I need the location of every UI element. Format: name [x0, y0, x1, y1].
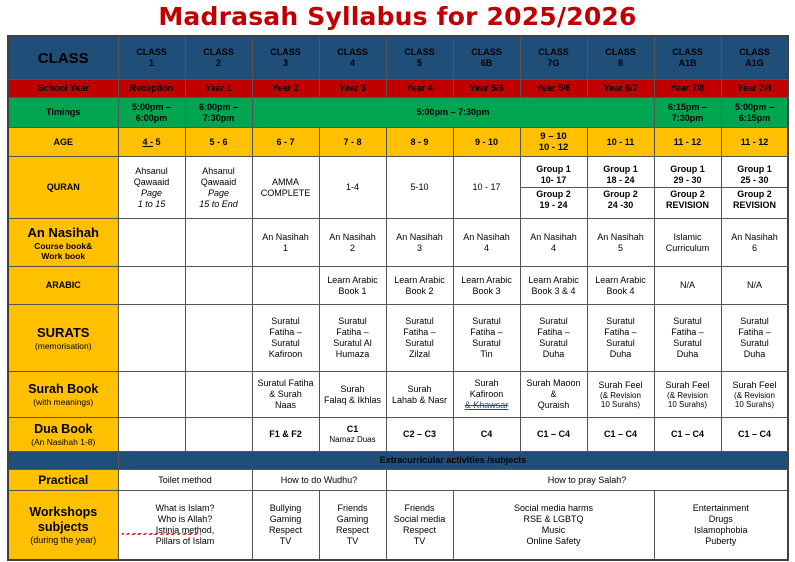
- surats-class-8-l2: Fatiha –: [589, 327, 653, 338]
- arabic-class-a1g: N/A: [721, 267, 788, 305]
- an-nasihah-class-8: An Nasihah 5: [587, 219, 654, 267]
- age-class-1: 4 - 5: [118, 128, 185, 157]
- timings-label: Timings: [8, 98, 118, 128]
- header-class-3-line2: 3: [254, 58, 318, 69]
- page-title: Madrasah Syllabus for 2025/2026: [0, 0, 795, 35]
- surah-book-class-3-l3: Naas: [254, 400, 318, 411]
- quran-class-7g-group2-value: 19 - 24: [539, 200, 567, 210]
- dua-book-class-4-l1: C1: [321, 424, 385, 435]
- workshops-row: Workshops subjects (during the year) Wha…: [8, 491, 788, 561]
- surah-book-class-6b: Surah Kafiroon & Khawsar: [453, 372, 520, 418]
- header-class-7g-line2: 7G: [522, 58, 586, 69]
- arabic-class-6b-l1: Learn Arabic: [455, 275, 519, 286]
- surah-book-class-a1b-l1: Surah Feel: [656, 380, 720, 391]
- dua-book-class-5: C2 – C3: [386, 418, 453, 452]
- arabic-label: ARABIC: [8, 267, 118, 305]
- surats-class-a1g-l3: Suratul: [723, 338, 787, 349]
- age-label: AGE: [8, 128, 118, 157]
- age-class-7g-line1: 9 – 10: [522, 131, 586, 142]
- header-class-6b: CLASS 6B: [453, 36, 520, 80]
- workshops-group-6-line-2: Drugs: [656, 514, 787, 525]
- arabic-class-8-l2: Book 4: [589, 286, 653, 297]
- surah-book-label-sub: (with meanings): [10, 397, 117, 407]
- workshops-group-5-line-4: Online Safety: [455, 536, 653, 547]
- workshops-group-3-line-1: Friends: [321, 503, 385, 514]
- extracurricular-banner: Extracurricular activities /subjects: [118, 452, 788, 470]
- surats-class-6b-l4: Tin: [455, 349, 519, 360]
- arabic-class-2: [185, 267, 252, 305]
- school-year-7g: Year 5/6: [520, 80, 587, 98]
- quran-class-8-group2-value: 24 -30: [608, 200, 634, 210]
- dua-book-class-4: C1 Namaz Duas: [319, 418, 386, 452]
- practical-group-2: How to do Wudhu?: [252, 470, 386, 491]
- age-class-3: 6 - 7: [252, 128, 319, 157]
- header-class-4-line2: 4: [321, 58, 385, 69]
- surah-book-class-a1b-l2: (& Revision: [656, 391, 720, 401]
- workshops-group-1-line-3: Istinja method,: [120, 525, 251, 536]
- surah-book-class-8-l2: (& Revision: [589, 391, 653, 401]
- workshops-group-2-line-3: Respect: [254, 525, 318, 536]
- surats-class-6b-l3: Suratul: [455, 338, 519, 349]
- surah-book-label-main: Surah Book: [10, 382, 117, 397]
- an-nasihah-class-1: [118, 219, 185, 267]
- surats-class-8-l4: Duha: [589, 349, 653, 360]
- header-class-4: CLASS 4: [319, 36, 386, 80]
- workshops-group-2-line-4: TV: [254, 536, 318, 547]
- workshops-group-2: Bullying Gaming Respect TV: [252, 491, 319, 561]
- school-year-5: Year 4: [386, 80, 453, 98]
- school-year-1: Reception: [118, 80, 185, 98]
- an-nasihah-class-3: An Nasihah 1: [252, 219, 319, 267]
- header-class-6b-line1: CLASS: [471, 47, 502, 57]
- surah-book-class-8: Surah Feel (& Revision 10 Surahs): [587, 372, 654, 418]
- surats-class-8: Suratul Fatiha – Suratul Duha: [587, 305, 654, 372]
- surah-book-class-7g-l3: Quraish: [522, 400, 586, 411]
- workshops-group-6-line-3: Islamophobia: [656, 525, 787, 536]
- header-class-7g-line1: CLASS: [538, 47, 569, 57]
- surats-class-7g-l3: Suratul: [522, 338, 586, 349]
- arabic-class-4-l1: Learn Arabic: [321, 275, 385, 286]
- quran-class-a1g-group2-value: REVISION: [733, 200, 776, 210]
- arabic-class-7g-l2: Book 3 & 4: [522, 286, 586, 297]
- dua-book-label-sub: (An Nasihah 1-8): [10, 437, 117, 447]
- practical-group-1: Toilet method: [118, 470, 252, 491]
- quran-class-1-l4: 1 to 15: [120, 199, 184, 210]
- surah-book-class-4: Surah Falaq & Ikhlas: [319, 372, 386, 418]
- dua-book-class-1: [118, 418, 185, 452]
- surats-class-5: Suratul Fatiha – Suratul Zilzal: [386, 305, 453, 372]
- quran-class-7g: Group 1 10- 17 Group 2 19 - 24: [520, 157, 587, 219]
- header-class-5: CLASS 5: [386, 36, 453, 80]
- an-nasihah-label-sub1: Course book&: [10, 241, 117, 251]
- quran-class-8-group1: Group 1 18 - 24: [588, 163, 654, 188]
- age-row: AGE 4 - 5 5 - 6 6 - 7 7 - 8 8 - 9 9 - 10…: [8, 128, 788, 157]
- dua-book-class-a1b: C1 – C4: [654, 418, 721, 452]
- an-nasihah-class-6b-l1: An Nasihah: [455, 232, 519, 243]
- quran-class-1-l2: Qawaaid: [120, 177, 184, 188]
- surah-book-class-2: [185, 372, 252, 418]
- an-nasihah-class-4-l2: 2: [321, 243, 385, 254]
- surah-book-class-a1g-l3: 10 Surahs): [723, 400, 787, 410]
- surah-book-row: Surah Book (with meanings) Suratul Fatih…: [8, 372, 788, 418]
- an-nasihah-class-a1g-l1: An Nasihah: [723, 232, 787, 243]
- surah-book-class-8-l1: Surah Feel: [589, 380, 653, 391]
- timings-class-1: 5:00pm – 6:00pm: [118, 98, 185, 128]
- arabic-row: ARABIC Learn Arabic Book 1 Learn Arabic …: [8, 267, 788, 305]
- an-nasihah-class-7g-l1: An Nasihah: [522, 232, 586, 243]
- surats-class-a1b-l2: Fatiha –: [656, 327, 720, 338]
- quran-class-a1b-group2-value: REVISION: [666, 200, 709, 210]
- header-class-a1g: CLASS A1G: [721, 36, 788, 80]
- timings-class-2: 6:00pm – 7:30pm: [185, 98, 252, 128]
- surats-class-3-l4: Kafiroon: [254, 349, 318, 360]
- age-class-6b: 9 - 10: [453, 128, 520, 157]
- quran-class-3-l1: AMMA: [254, 177, 318, 188]
- surats-class-a1g-l1: Suratul: [723, 316, 787, 327]
- quran-class-3-l2: COMPLETE: [254, 188, 318, 199]
- workshops-label-sub2: (during the year): [10, 535, 117, 545]
- quran-class-a1g-group2: Group 2 REVISION: [722, 188, 788, 213]
- quran-class-7g-group1-label: Group 1: [521, 164, 587, 175]
- surats-class-4-l3: Suratul Al: [321, 338, 385, 349]
- dua-book-class-2: [185, 418, 252, 452]
- quran-class-a1b-group1-value: 29 - 30: [673, 175, 701, 185]
- arabic-class-a1b: N/A: [654, 267, 721, 305]
- surah-book-class-3-l2: & Surah: [254, 389, 318, 400]
- arabic-class-5-l2: Book 2: [388, 286, 452, 297]
- surats-class-7g-l1: Suratul: [522, 316, 586, 327]
- school-year-6b: Year 5/6: [453, 80, 520, 98]
- surats-class-7g-l2: Fatiha –: [522, 327, 586, 338]
- an-nasihah-class-8-l1: An Nasihah: [589, 232, 653, 243]
- workshops-label-sub1: subjects: [10, 520, 117, 535]
- surats-class-a1b-l1: Suratul: [656, 316, 720, 327]
- header-class-1-line2: 1: [120, 58, 184, 69]
- an-nasihah-class-a1g: An Nasihah 6: [721, 219, 788, 267]
- quran-class-8-group1-value: 18 - 24: [606, 175, 634, 185]
- workshops-group-1: What is Islam? Who is Allah? Istinja met…: [118, 491, 252, 561]
- header-class-4-line1: CLASS: [337, 47, 368, 57]
- header-class-1-line1: CLASS: [136, 47, 167, 57]
- surats-class-7g-l4: Duha: [522, 349, 586, 360]
- arabic-class-7g: Learn Arabic Book 3 & 4: [520, 267, 587, 305]
- workshops-group-4: Friends Social media Respect TV: [386, 491, 453, 561]
- workshops-group-1-line-4: Pillars of Islam: [120, 536, 251, 547]
- dua-book-row: Dua Book (An Nasihah 1-8) F1 & F2 C1 Nam…: [8, 418, 788, 452]
- surats-class-a1g-l4: Duha: [723, 349, 787, 360]
- surah-book-class-7g: Surah Maoon & Quraish: [520, 372, 587, 418]
- dua-book-label: Dua Book (An Nasihah 1-8): [8, 418, 118, 452]
- workshops-group-5-line-3: Music: [455, 525, 653, 536]
- surah-book-class-6b-strikethrough: & Khawsar: [455, 400, 519, 411]
- header-class-8: CLASS 8: [587, 36, 654, 80]
- quran-class-5: 5-10: [386, 157, 453, 219]
- workshops-group-2-line-1: Bullying: [254, 503, 318, 514]
- quran-class-2-l1: Ahsanul: [187, 166, 251, 177]
- timings-class-a1b: 6:15pm – 7:30pm: [654, 98, 721, 128]
- quran-class-6b: 10 - 17: [453, 157, 520, 219]
- school-year-a1b: Year 7/8: [654, 80, 721, 98]
- surats-class-6b-l2: Fatiha –: [455, 327, 519, 338]
- an-nasihah-class-8-l2: 5: [589, 243, 653, 254]
- timings-class-a1g: 5:00pm – 6:15pm: [721, 98, 788, 128]
- quran-class-1: Ahsanul Qawaaid Page 1 to 15: [118, 157, 185, 219]
- header-class-7g: CLASS 7G: [520, 36, 587, 80]
- workshops-group-3-line-2: Gaming: [321, 514, 385, 525]
- quran-class-2-l3: Page: [187, 188, 251, 199]
- surah-book-class-4-l2: Falaq & Ikhlas: [321, 395, 385, 406]
- surah-book-class-5-l2: Lahab & Nasr: [388, 395, 452, 406]
- workshops-group-4-line-2: Social media: [388, 514, 452, 525]
- surats-class-8-l3: Suratul: [589, 338, 653, 349]
- header-class-a1g-line1: CLASS: [739, 47, 770, 57]
- workshops-group-5-line-1: Social media harms: [455, 503, 653, 514]
- timings-row: Timings 5:00pm – 6:00pm 6:00pm – 7:30pm …: [8, 98, 788, 128]
- extracurricular-banner-spacer: [8, 452, 118, 470]
- an-nasihah-class-2: [185, 219, 252, 267]
- surah-book-class-8-l3: 10 Surahs): [589, 400, 653, 410]
- workshops-group-2-line-2: Gaming: [254, 514, 318, 525]
- an-nasihah-row: An Nasihah Course book& Work book An Nas…: [8, 219, 788, 267]
- school-year-4: Year 3: [319, 80, 386, 98]
- extracurricular-banner-row: Extracurricular activities /subjects: [8, 452, 788, 470]
- an-nasihah-class-4-l1: An Nasihah: [321, 232, 385, 243]
- timings-middle: 5:00pm – 7:30pm: [252, 98, 654, 128]
- surah-book-class-a1g: Surah Feel (& Revision 10 Surahs): [721, 372, 788, 418]
- surah-book-class-5: Surah Lahab & Nasr: [386, 372, 453, 418]
- header-class-a1b-line1: CLASS: [672, 47, 703, 57]
- school-year-a1g: Year 7/8: [721, 80, 788, 98]
- school-year-2: Year 1: [185, 80, 252, 98]
- surats-class-5-l2: Fatiha –: [388, 327, 452, 338]
- surats-class-3-l1: Suratul: [254, 316, 318, 327]
- workshops-group-4-line-3: Respect: [388, 525, 452, 536]
- quran-class-a1g-group2-label: Group 2: [722, 189, 788, 200]
- surats-class-5-l1: Suratul: [388, 316, 452, 327]
- surah-book-class-a1b: Surah Feel (& Revision 10 Surahs): [654, 372, 721, 418]
- quran-class-a1g-group1-label: Group 1: [722, 164, 788, 175]
- age-class-4: 7 - 8: [319, 128, 386, 157]
- school-year-row: School Year Reception Year 1 Year 2 Year…: [8, 80, 788, 98]
- quran-class-8-group2-label: Group 2: [588, 189, 654, 200]
- surats-class-4: Suratul Fatiha – Suratul Al Humaza: [319, 305, 386, 372]
- surah-book-class-5-l1: Surah: [388, 384, 452, 395]
- an-nasihah-class-a1b-l2: Curriculum: [656, 243, 720, 254]
- dua-book-class-6b: C4: [453, 418, 520, 452]
- arabic-class-5-l1: Learn Arabic: [388, 275, 452, 286]
- an-nasihah-class-a1b: Islamic Curriculum: [654, 219, 721, 267]
- practical-label: Practical: [8, 470, 118, 491]
- quran-class-a1g-group1: Group 1 25 - 30: [722, 163, 788, 188]
- an-nasihah-class-a1b-l1: Islamic: [656, 232, 720, 243]
- header-class-8-line1: CLASS: [605, 47, 636, 57]
- surats-class-a1b: Suratul Fatiha – Suratul Duha: [654, 305, 721, 372]
- surats-class-5-l4: Zilzal: [388, 349, 452, 360]
- school-year-8: Year 6/7: [587, 80, 654, 98]
- an-nasihah-class-6b-l2: 4: [455, 243, 519, 254]
- quran-class-7g-group2-label: Group 2: [521, 189, 587, 200]
- practical-group-3: How to pray Salah?: [386, 470, 788, 491]
- practical-row: Practical Toilet method How to do Wudhu?…: [8, 470, 788, 491]
- surats-class-a1g: Suratul Fatiha – Suratul Duha: [721, 305, 788, 372]
- header-class-2-line2: 2: [187, 58, 251, 69]
- quran-class-a1g: Group 1 25 - 30 Group 2 REVISION: [721, 157, 788, 219]
- school-year-label: School Year: [8, 80, 118, 98]
- surah-book-class-a1g-l1: Surah Feel: [723, 380, 787, 391]
- workshops-group-4-line-4: TV: [388, 536, 452, 547]
- workshops-label-main: Workshops: [10, 505, 117, 520]
- header-class-label: CLASS: [8, 36, 118, 80]
- workshops-group-6-line-1: Entertainment: [656, 503, 787, 514]
- surats-class-5-l3: Suratul: [388, 338, 452, 349]
- an-nasihah-class-7g-l2: 4: [522, 243, 586, 254]
- surats-class-1: [118, 305, 185, 372]
- surats-class-6b: Suratul Fatiha – Suratul Tin: [453, 305, 520, 372]
- quran-class-8-group2: Group 2 24 -30: [588, 188, 654, 213]
- surah-book-class-a1b-l3: 10 Surahs): [656, 400, 720, 410]
- surah-book-class-3-l1: Suratul Fatiha: [254, 378, 318, 389]
- an-nasihah-class-5: An Nasihah 3: [386, 219, 453, 267]
- surah-book-class-7g-l2: &: [522, 389, 586, 400]
- surats-class-7g: Suratul Fatiha – Suratul Duha: [520, 305, 587, 372]
- school-year-3: Year 2: [252, 80, 319, 98]
- surats-class-a1g-l2: Fatiha –: [723, 327, 787, 338]
- header-class-5-line2: 5: [388, 58, 452, 69]
- age-class-a1b: 11 - 12: [654, 128, 721, 157]
- quran-class-a1g-group1-value: 25 - 30: [740, 175, 768, 185]
- arabic-class-8-l1: Learn Arabic: [589, 275, 653, 286]
- surah-book-class-7g-l1: Surah Maoon: [522, 378, 586, 389]
- age-class-7g-line2: 10 - 12: [522, 142, 586, 153]
- an-nasihah-label-sub2: Work book: [10, 251, 117, 261]
- surats-class-8-l1: Suratul: [589, 316, 653, 327]
- arabic-class-1: [118, 267, 185, 305]
- arabic-class-5: Learn Arabic Book 2: [386, 267, 453, 305]
- age-class-2: 5 - 6: [185, 128, 252, 157]
- header-class-2-line1: CLASS: [203, 47, 234, 57]
- quran-class-7g-group1-value: 10- 17: [541, 175, 567, 185]
- surats-label-main: SURATS: [10, 325, 117, 341]
- quran-class-a1b: Group 1 29 - 30 Group 2 REVISION: [654, 157, 721, 219]
- quran-class-a1b-group2: Group 2 REVISION: [655, 188, 721, 213]
- quran-row: QURAN Ahsanul Qawaaid Page 1 to 15 Ahsan…: [8, 157, 788, 219]
- quran-class-a1b-group1-label: Group 1: [655, 164, 721, 175]
- an-nasihah-class-5-l1: An Nasihah: [388, 232, 452, 243]
- dua-book-class-3: F1 & F2: [252, 418, 319, 452]
- quran-class-7g-group1: Group 1 10- 17: [521, 163, 587, 188]
- quran-class-1-l1: Ahsanul: [120, 166, 184, 177]
- header-class-a1b-line2: A1B: [656, 58, 720, 69]
- surah-book-class-6b-l1: Surah: [455, 378, 519, 389]
- quran-class-2-l2: Qawaaid: [187, 177, 251, 188]
- surats-row: SURATS (memorisation) Suratul Fatiha – S…: [8, 305, 788, 372]
- an-nasihah-class-7g: An Nasihah 4: [520, 219, 587, 267]
- surats-label: SURATS (memorisation): [8, 305, 118, 372]
- an-nasihah-class-4: An Nasihah 2: [319, 219, 386, 267]
- surats-class-3: Suratul Fatiha – Suratul Kafiroon: [252, 305, 319, 372]
- dua-book-class-a1g: C1 – C4: [721, 418, 788, 452]
- workshops-group-6-line-4: Puberty: [656, 536, 787, 547]
- quran-class-1-l3: Page: [120, 188, 184, 199]
- workshops-group-5: Social media harms RSE & LGBTQ Music Onl…: [453, 491, 654, 561]
- an-nasihah-class-3-l2: 1: [254, 243, 318, 254]
- surats-class-4-l4: Humaza: [321, 349, 385, 360]
- age-class-1-underlined: 4 -: [142, 137, 153, 147]
- age-class-1-rest: 5: [153, 137, 161, 147]
- arabic-class-4-l2: Book 1: [321, 286, 385, 297]
- quran-class-4: 1-4: [319, 157, 386, 219]
- surats-label-sub: (memorisation): [10, 341, 117, 351]
- surats-class-3-l2: Fatiha –: [254, 327, 318, 338]
- header-row: CLASS CLASS 1 CLASS 2 CLASS 3 CLASS 4: [8, 36, 788, 80]
- age-class-5: 8 - 9: [386, 128, 453, 157]
- workshops-group-3-line-3: Respect: [321, 525, 385, 536]
- surats-class-6b-l1: Suratul: [455, 316, 519, 327]
- syllabus-page: Madrasah Syllabus for 2025/2026 CLASS CL…: [0, 0, 795, 562]
- quran-class-2-l4: 15 to End: [187, 199, 251, 210]
- age-class-8: 10 - 11: [587, 128, 654, 157]
- arabic-class-7g-l1: Learn Arabic: [522, 275, 586, 286]
- header-class-a1b: CLASS A1B: [654, 36, 721, 80]
- header-class-5-line1: CLASS: [404, 47, 435, 57]
- quran-label: QURAN: [8, 157, 118, 219]
- workshops-group-1-line-2: Who is Allah?: [120, 514, 251, 525]
- header-class-6b-line2: 6B: [455, 58, 519, 69]
- quran-class-a1b-group1: Group 1 29 - 30: [655, 163, 721, 188]
- an-nasihah-class-3-l1: An Nasihah: [254, 232, 318, 243]
- header-class-3-line1: CLASS: [270, 47, 301, 57]
- syllabus-table: CLASS CLASS 1 CLASS 2 CLASS 3 CLASS 4: [7, 35, 789, 561]
- header-class-1: CLASS 1: [118, 36, 185, 80]
- surah-book-class-a1g-l2: (& Revision: [723, 391, 787, 401]
- arabic-class-6b-l2: Book 3: [455, 286, 519, 297]
- arabic-class-3: [252, 267, 319, 305]
- quran-class-a1b-group2-label: Group 2: [655, 189, 721, 200]
- workshops-group-1-line-1: What is Islam?: [120, 503, 251, 514]
- header-class-8-line2: 8: [589, 58, 653, 69]
- surats-class-a1b-l3: Suratul: [656, 338, 720, 349]
- dua-book-class-4-l2: Namaz Duas: [321, 435, 385, 445]
- surah-book-class-6b-l2: Kafiroon: [455, 389, 519, 400]
- surah-book-label: Surah Book (with meanings): [8, 372, 118, 418]
- header-class-2: CLASS 2: [185, 36, 252, 80]
- surats-class-4-l1: Suratul: [321, 316, 385, 327]
- workshops-label: Workshops subjects (during the year): [8, 491, 118, 561]
- surats-class-2: [185, 305, 252, 372]
- an-nasihah-class-5-l2: 3: [388, 243, 452, 254]
- surats-class-3-l3: Suratul: [254, 338, 318, 349]
- header-class-a1g-line2: A1G: [723, 58, 787, 69]
- an-nasihah-label-main: An Nasihah: [10, 225, 117, 241]
- arabic-class-4: Learn Arabic Book 1: [319, 267, 386, 305]
- workshops-group-5-line-2: RSE & LGBTQ: [455, 514, 653, 525]
- workshops-group-4-line-1: Friends: [388, 503, 452, 514]
- dua-book-class-7g: C1 – C4: [520, 418, 587, 452]
- an-nasihah-class-a1g-l2: 6: [723, 243, 787, 254]
- quran-class-2: Ahsanul Qawaaid Page 15 to End: [185, 157, 252, 219]
- surah-book-class-1: [118, 372, 185, 418]
- workshops-group-3-line-4: TV: [321, 536, 385, 547]
- quran-class-3: AMMA COMPLETE: [252, 157, 319, 219]
- arabic-class-8: Learn Arabic Book 4: [587, 267, 654, 305]
- surah-book-class-4-l1: Surah: [321, 384, 385, 395]
- quran-class-7g-group2: Group 2 19 - 24: [521, 188, 587, 213]
- arabic-class-6b: Learn Arabic Book 3: [453, 267, 520, 305]
- quran-class-8-group1-label: Group 1: [588, 164, 654, 175]
- an-nasihah-label: An Nasihah Course book& Work book: [8, 219, 118, 267]
- dua-book-class-8: C1 – C4: [587, 418, 654, 452]
- quran-class-8: Group 1 18 - 24 Group 2 24 -30: [587, 157, 654, 219]
